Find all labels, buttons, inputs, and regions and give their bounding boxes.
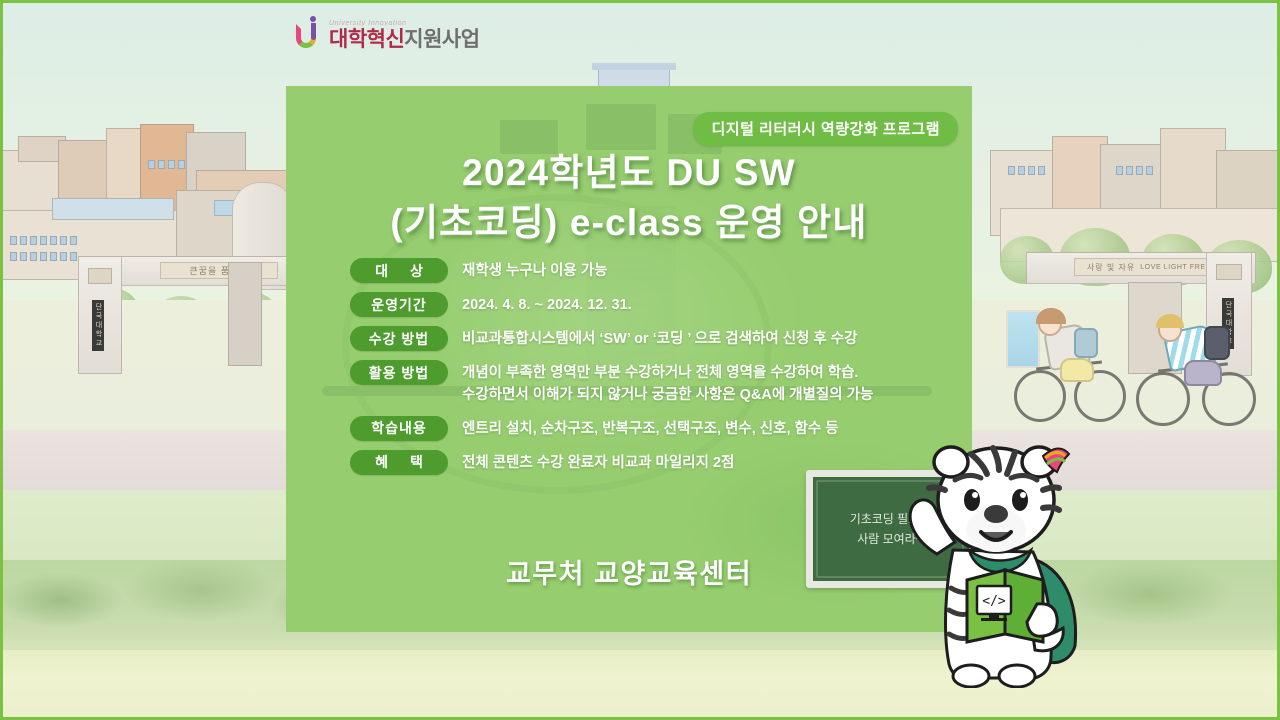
logo-u-mark-icon [296,16,322,50]
window-row [148,160,185,169]
info-value-target-line-1: 재학생 누구나 이용 가능 [462,260,956,282]
svg-text:</>: </> [982,594,1006,609]
program-badge: 디지털 리터러시 역량강화 프로그램 [693,112,958,146]
left-gate-pillar-2 [228,262,262,366]
info-label-target: 대상 [350,258,448,283]
left-gate-pillar-emblem [88,268,112,284]
cyclist-right [1132,312,1268,432]
info-label-benefit: 혜택 [350,450,448,475]
info-label-curriculum: 학습내용 [350,416,448,441]
poster-title-line-2: (기초코딩) e-class 운영 안내 [286,198,972,248]
info-value-how-to-use-line-2: 수강하면서 이해가 되지 않거나 궁금한 사항은 Q&A에 개별질의 가능 [462,384,956,406]
building-block [52,198,174,220]
logo-j-shape-icon [309,16,317,44]
info-label-benefit-char-1: 혜 [375,452,388,472]
rider-backpack [1204,326,1230,360]
window-row [10,252,77,261]
info-label-benefit-char-2: 택 [410,452,423,472]
poster-title: 2024학년도 DU SW (기초코딩) e-class 운영 안내 [286,148,972,247]
rider-hair [1036,308,1066,324]
rider-legs [1184,360,1222,386]
info-value-period-line-1: 2024. 4. 8. ~ 2024. 12. 31. [462,294,956,316]
bicycle-wheel [1014,370,1066,422]
info-row: 운영기간 2024. 4. 8. ~ 2024. 12. 31. [350,292,956,317]
info-value-how-to-use: 개념이 부족한 영역만 부분 수강하거나 전체 영역을 수강하여 학습. 수강하… [462,360,956,407]
rider-legs [1060,358,1094,382]
info-label-how-to-enroll: 수강 방법 [350,326,448,351]
info-row: 수강 방법 비교과통합시스템에서 ‘SW’ or ‘코딩 ’ 으로 검색하여 신… [350,326,956,351]
info-value-target: 재학생 누구나 이용 가능 [462,258,956,282]
logo-text-block: University Innovation 대학혁신지원사업 [329,20,480,50]
info-label-how-to-use: 활용 방법 [350,360,448,385]
info-value-curriculum-line-1: 엔트리 설치, 순차구조, 반복구조, 선택구조, 변수, 신호, 함수 등 [462,418,956,440]
logo-korean-part-2: 지원사업 [404,28,479,51]
info-value-how-to-enroll-line-1: 비교과통합시스템에서 ‘SW’ or ‘코딩 ’ 으로 검색하여 신청 후 수강 [462,328,956,350]
tiger-illustration-icon: </> [893,438,1108,688]
info-value-how-to-enroll: 비교과통합시스템에서 ‘SW’ or ‘코딩 ’ 으로 검색하여 신청 후 수강 [462,326,956,350]
window-row [1008,166,1045,175]
rider-hair [1156,314,1184,328]
window-row [10,236,77,245]
info-value-how-to-use-line-1: 개념이 부족한 영역만 부분 수강하거나 전체 영역을 수강하여 학습. [462,362,956,384]
right-gate-sign-kr: 사랑 빛 자유 [1087,262,1135,273]
logo-korean-part-1: 대학혁신 [329,28,404,51]
info-label-target-char-1: 대 [375,261,388,281]
info-value-period: 2024. 4. 8. ~ 2024. 12. 31. [462,292,956,316]
ghost-building [586,104,656,150]
info-row: 대상 재학생 누구나 이용 가능 [350,258,956,283]
info-label-target-char-2: 상 [410,261,423,281]
bicycle-wheel [1136,372,1190,426]
info-row: 학습내용 엔트리 설치, 순차구조, 반복구조, 선택구조, 변수, 신호, 함… [350,416,956,441]
poster-title-line-1: 2024학년도 DU SW [286,148,972,198]
cyclist-left [1012,308,1142,428]
center-building-top [592,63,676,70]
window-row [1116,166,1153,175]
info-value-curriculum: 엔트리 설치, 순차구조, 반복구조, 선택구조, 변수, 신호, 함수 등 [462,416,956,440]
info-rows: 대상 재학생 누구나 이용 가능 운영기간 2024. 4. 8. ~ 2024… [350,258,956,484]
logo-korean-text: 대학혁신지원사업 [329,29,480,50]
white-tiger-mascot: </> [893,438,1108,688]
university-innovation-logo: University Innovation 대학혁신지원사업 [296,16,480,50]
right-gate-pillar-emblem [1216,264,1242,280]
info-label-period: 운영기간 [350,292,448,317]
left-pillar-vertical-text: 단국대학교 [92,300,104,351]
logo-english-text: University Innovation [329,20,480,27]
info-row: 활용 방법 개념이 부족한 영역만 부분 수강하거나 전체 영역을 수강하여 학… [350,360,956,407]
poster-root: 큰꿈을 품어라 단국대학교 사랑 빛 자유 LOVE LIGHT FREEDOM… [0,0,1280,720]
rider-backpack [1074,328,1098,358]
